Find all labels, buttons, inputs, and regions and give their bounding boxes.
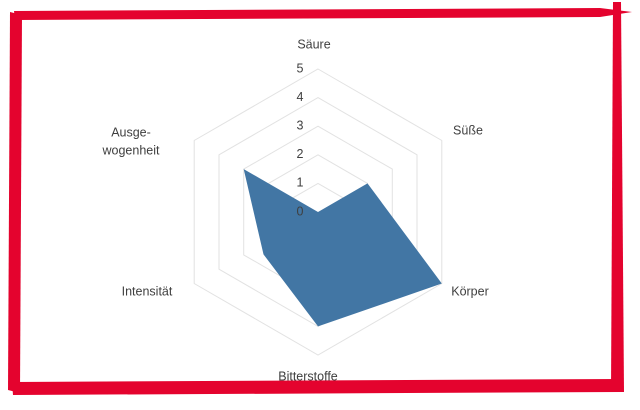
tick-label-1: 1 (297, 176, 304, 190)
radar-series-polygon (244, 169, 442, 326)
tick-label-0: 0 (297, 204, 304, 218)
tick-label-3: 3 (297, 118, 304, 132)
tick-label-4: 4 (297, 90, 304, 104)
radar-chart-page: 5 4 3 2 1 0 Säure Süße Körper Bitterstof… (0, 0, 640, 410)
axis-label-saeure: Säure (297, 37, 330, 51)
radar-chart: 5 4 3 2 1 0 Säure Süße Körper Bitterstof… (0, 0, 640, 410)
axis-label-bitterstoffe: Bitterstoffe (278, 369, 338, 383)
axis-label-intensitaet: Intensität (122, 284, 173, 298)
tick-label-5: 5 (297, 61, 304, 75)
tick-label-2: 2 (297, 147, 304, 161)
axis-label-ausgewogenheit-line2: wogenheit (102, 143, 161, 157)
axis-label-ausgewogenheit-line1: Ausge- (111, 125, 151, 139)
axis-label-suesse: Süße (453, 123, 483, 137)
axis-label-koerper: Körper (451, 284, 489, 298)
